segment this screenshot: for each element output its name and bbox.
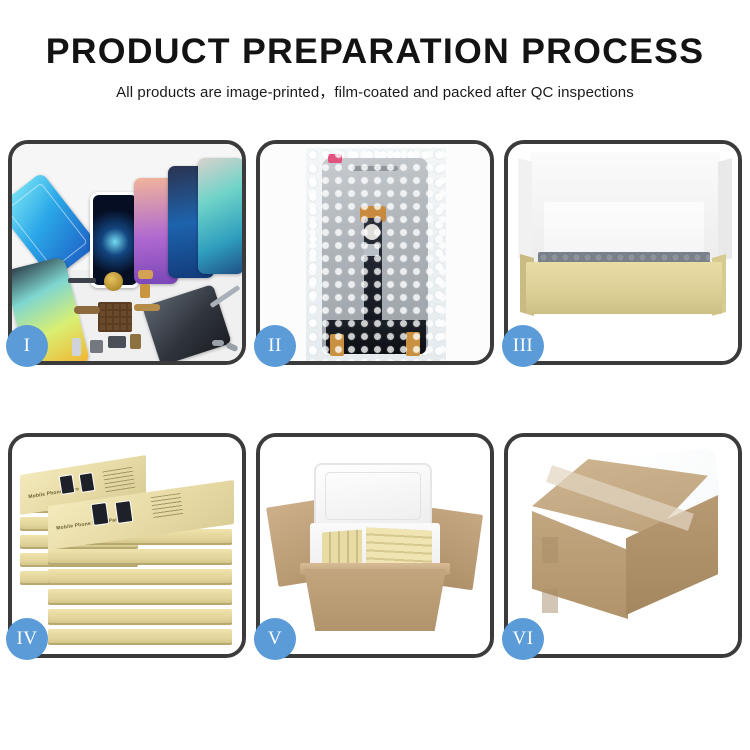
process-step-1: I bbox=[8, 140, 246, 365]
step-2-image bbox=[260, 144, 490, 361]
box-screen-graphic bbox=[79, 472, 96, 493]
step-4-image: Mobile Phone Spare Parts Mobile Phone Sp… bbox=[12, 437, 242, 654]
process-step-3: III bbox=[504, 140, 742, 365]
tape-seam-lower bbox=[542, 589, 558, 613]
screw-part bbox=[212, 340, 224, 346]
page-header: PRODUCT PREPARATION PROCESS All products… bbox=[0, 0, 750, 102]
box-screen-graphic bbox=[91, 502, 110, 526]
spare-part bbox=[138, 270, 153, 279]
spare-part bbox=[108, 336, 126, 348]
spare-part bbox=[130, 334, 141, 349]
process-step-grid: I II bbox=[8, 140, 742, 658]
bubble-wrap-overlay bbox=[306, 148, 446, 361]
process-step-2: II bbox=[256, 140, 494, 365]
step-5-image bbox=[260, 437, 490, 654]
spare-part bbox=[72, 338, 81, 356]
step-1-image bbox=[12, 144, 242, 361]
process-step-6: VI bbox=[504, 433, 742, 658]
page-subtitle: All products are image-printed，film-coat… bbox=[0, 81, 750, 102]
process-step-4: Mobile Phone Spare Parts Mobile Phone Sp… bbox=[8, 433, 246, 658]
box-checklist bbox=[151, 493, 184, 519]
spare-part bbox=[140, 284, 150, 298]
box-screen-graphic bbox=[115, 500, 134, 524]
step-6-image bbox=[508, 437, 738, 654]
box-screen-graphic bbox=[59, 474, 76, 495]
gold-box bbox=[48, 629, 232, 645]
step-badge-2: II bbox=[254, 325, 296, 367]
gold-box bbox=[48, 569, 232, 585]
gold-tray-front bbox=[526, 262, 722, 314]
spare-part bbox=[90, 340, 103, 353]
gold-box bbox=[48, 589, 232, 605]
spare-part bbox=[74, 306, 100, 314]
product-preparation-page: PRODUCT PREPARATION PROCESS All products… bbox=[0, 0, 750, 750]
step-3-image bbox=[508, 144, 738, 361]
speaker-coil-part bbox=[104, 272, 123, 291]
gold-box bbox=[48, 609, 232, 625]
step-badge-3: III bbox=[502, 325, 544, 367]
step-badge-6: VI bbox=[502, 618, 544, 660]
step-badge-5: V bbox=[254, 618, 296, 660]
process-step-5: V bbox=[256, 433, 494, 658]
phone-teal bbox=[198, 158, 242, 274]
step-badge-4: IV bbox=[6, 618, 48, 660]
tape-seam-upper bbox=[542, 537, 558, 563]
step-badge-1: I bbox=[6, 325, 48, 367]
chip-grid-part bbox=[98, 302, 132, 332]
spare-part bbox=[68, 278, 96, 283]
box-checklist bbox=[102, 467, 135, 493]
page-title: PRODUCT PREPARATION PROCESS bbox=[0, 34, 750, 69]
foam-box-lid bbox=[314, 463, 432, 529]
spare-part bbox=[134, 304, 160, 311]
gold-box bbox=[48, 549, 232, 565]
carton-front bbox=[304, 569, 446, 631]
